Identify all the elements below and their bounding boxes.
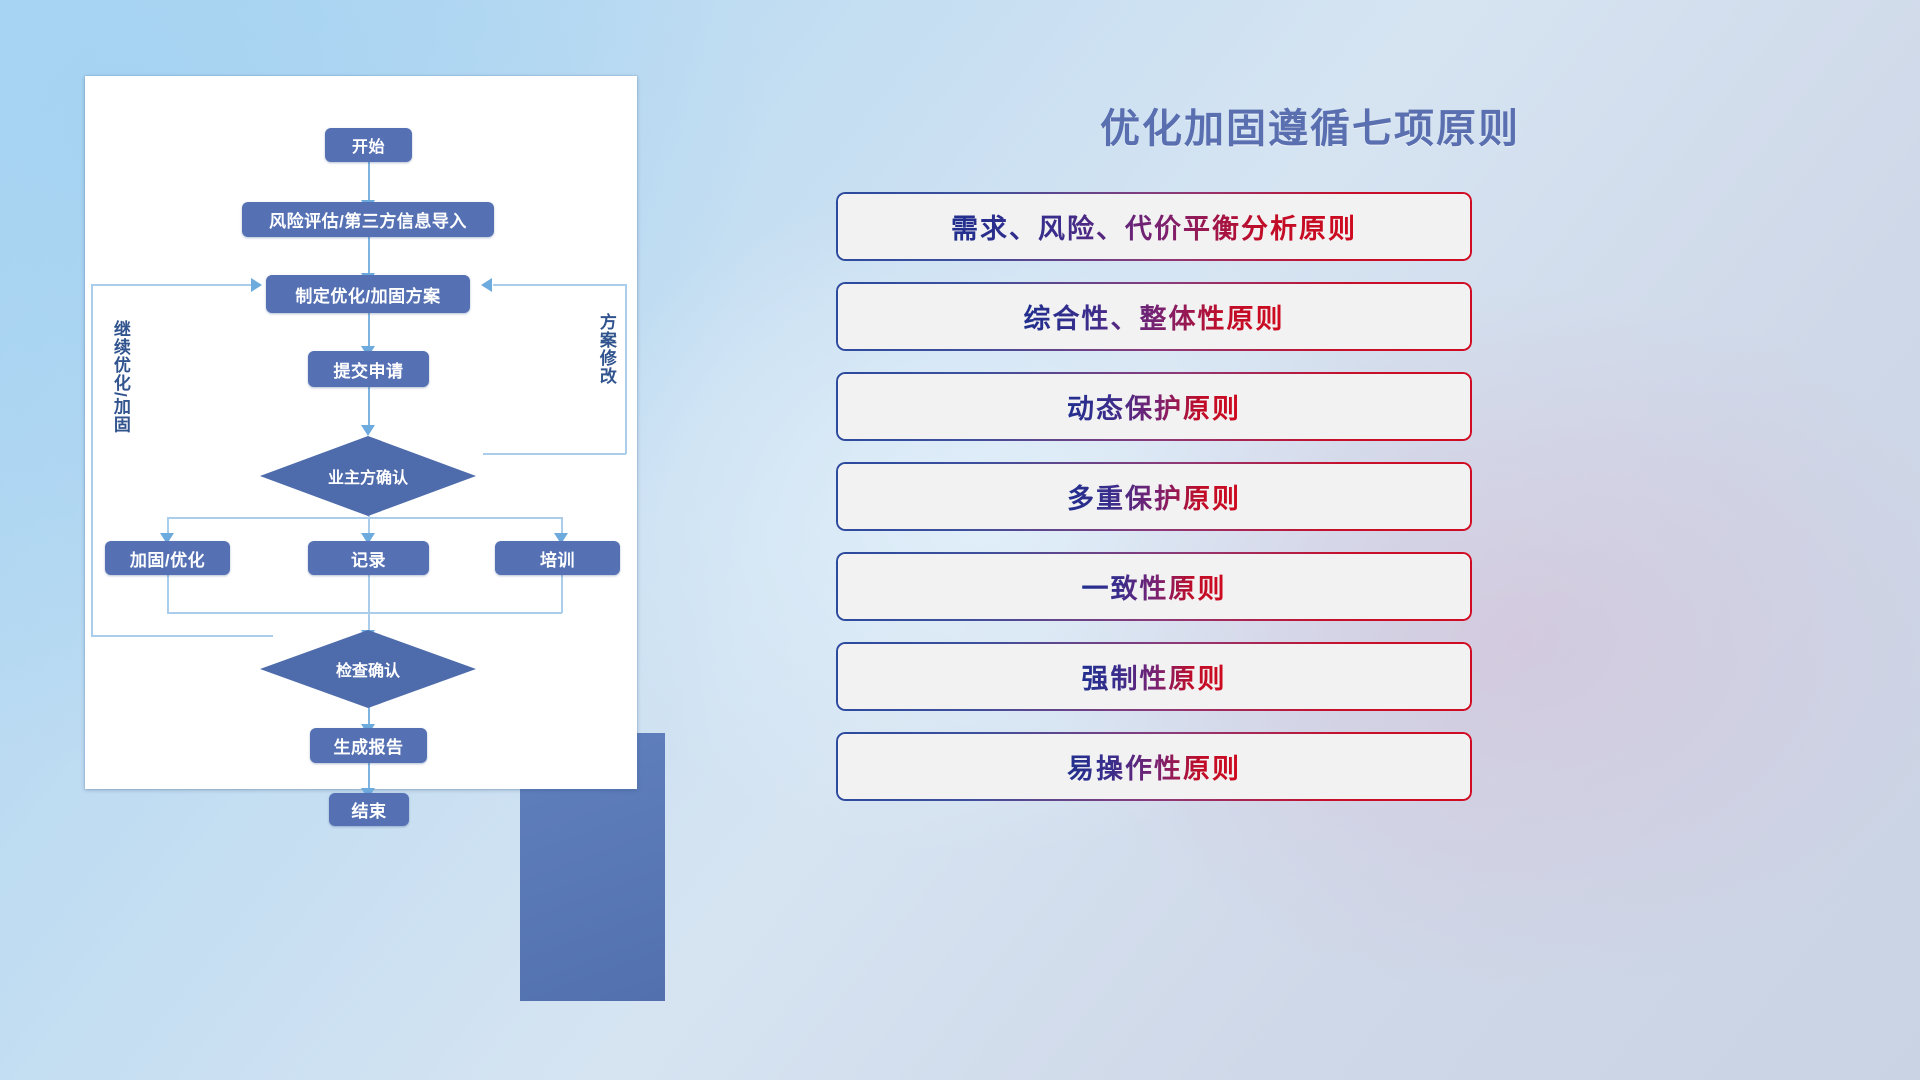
page-title: 优化加固遵循七项原则	[940, 96, 1680, 154]
principle-card-inner: 强制性原则	[838, 644, 1471, 710]
connector-training-down	[561, 575, 563, 613]
flowchart-card: 继续优化/加固 方案修改 开始 风险评估/第三方信息导入 制定优化/加固方案 提…	[85, 76, 637, 789]
connector-record-down	[368, 575, 370, 635]
flow-node-risk-assessment[interactable]: 风险评估/第三方信息导入	[242, 202, 494, 237]
arrowhead-plan-left	[251, 278, 262, 292]
principle-card[interactable]: 一致性原则	[836, 552, 1472, 621]
principle-card[interactable]: 综合性、整体性原则	[836, 282, 1472, 351]
connector-right-loop-vertical	[625, 284, 627, 454]
edge-label-plan-revision: 方案修改	[597, 313, 615, 385]
flow-node-training[interactable]: 培训	[495, 541, 620, 575]
flow-node-reinforce[interactable]: 加固/优化	[105, 541, 230, 575]
flow-node-end[interactable]: 结束	[329, 793, 409, 826]
flow-node-owner-confirm[interactable]: 业主方确认	[260, 436, 476, 516]
principles-list: 需求、风险、代价平衡分析原则 综合性、整体性原则 动态保护原则 多重保护原则 一…	[836, 192, 1472, 822]
principle-card-inner: 一致性原则	[838, 554, 1471, 620]
connector-left-loop-bottom	[91, 635, 273, 637]
principle-card-inner: 动态保护原则	[838, 374, 1471, 440]
connector-right-loop-top	[493, 284, 626, 286]
arrowhead-plan-right	[481, 278, 492, 292]
flow-node-submit[interactable]: 提交申请	[308, 351, 429, 387]
connector-start-risk	[368, 162, 370, 204]
connector-left-loop-top	[91, 284, 254, 286]
flow-node-plan[interactable]: 制定优化/加固方案	[266, 275, 470, 313]
principle-card-inner: 多重保护原则	[838, 464, 1471, 530]
slide-background: 继续优化/加固 方案修改 开始 风险评估/第三方信息导入 制定优化/加固方案 提…	[0, 0, 1920, 1080]
principle-card[interactable]: 强制性原则	[836, 642, 1472, 711]
connector-left-loop-vertical	[91, 284, 93, 636]
principle-label: 需求、风险、代价平衡分析原则	[951, 207, 1357, 246]
principle-card[interactable]: 动态保护原则	[836, 372, 1472, 441]
principle-card-inner: 综合性、整体性原则	[838, 284, 1471, 350]
principle-card-inner: 易操作性原则	[838, 734, 1471, 800]
connector-reinforce-down	[167, 575, 169, 613]
connector-branch-bus	[167, 517, 562, 519]
principle-card[interactable]: 多重保护原则	[836, 462, 1472, 531]
flow-node-start[interactable]: 开始	[325, 128, 412, 162]
principle-label: 强制性原则	[1082, 657, 1227, 696]
principle-card-inner: 需求、风险、代价平衡分析原则	[838, 194, 1471, 260]
flow-node-record[interactable]: 记录	[308, 541, 429, 575]
principle-label: 动态保护原则	[1067, 387, 1241, 426]
connector-right-loop-bottom	[483, 453, 626, 455]
arrowhead-owner	[361, 425, 375, 436]
flow-node-report[interactable]: 生成报告	[310, 728, 427, 763]
principle-label: 综合性、整体性原则	[1024, 297, 1285, 336]
principle-label: 一致性原则	[1082, 567, 1227, 606]
principle-label: 易操作性原则	[1067, 747, 1241, 786]
edge-label-continue-optimize: 继续优化/加固	[111, 320, 129, 434]
connector-merge-bus	[167, 612, 562, 614]
principle-label: 多重保护原则	[1067, 477, 1241, 516]
principle-card[interactable]: 易操作性原则	[836, 732, 1472, 801]
flow-node-check-confirm[interactable]: 检查确认	[260, 630, 476, 708]
principle-card[interactable]: 需求、风险、代价平衡分析原则	[836, 192, 1472, 261]
